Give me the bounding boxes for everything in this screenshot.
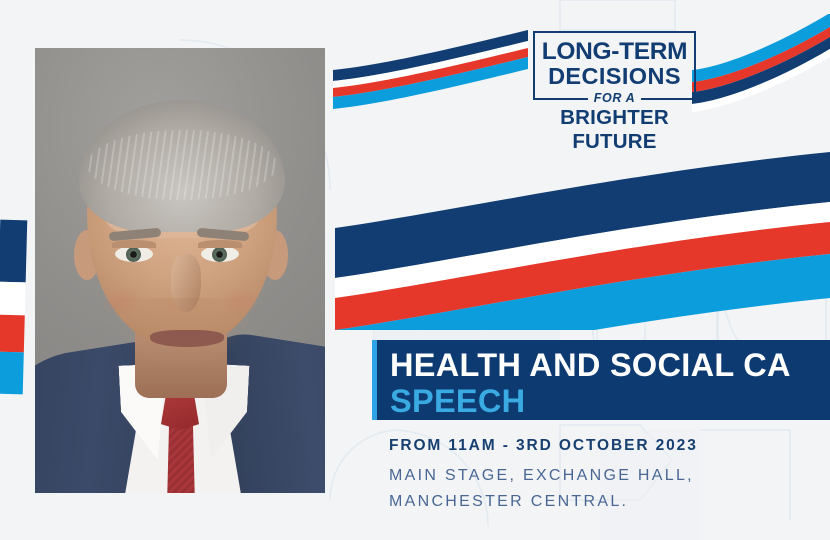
eye-right <box>201 246 239 262</box>
eyelid-left <box>112 240 156 248</box>
eyelid-right <box>198 240 242 248</box>
speaker-portrait-photo <box>35 48 325 493</box>
banner-left-accent-bar <box>372 340 377 420</box>
cheek-left <box>101 286 141 316</box>
promo-graphic-canvas: LONG-TERM DECISIONS FOR A BRIGHTER FUTUR… <box>0 0 830 540</box>
event-subtitle: SPEECH <box>390 382 525 420</box>
campaign-logo: LONG-TERM DECISIONS FOR A BRIGHTER FUTUR… <box>533 31 696 154</box>
nose <box>171 254 201 312</box>
iris-left <box>126 247 141 262</box>
logo-line-decisions: DECISIONS <box>535 64 694 89</box>
logo-line-long-term: LONG-TERM <box>533 40 695 64</box>
event-venue-line-1: MAIN STAGE, EXCHANGE HALL, <box>389 463 694 489</box>
event-venue: MAIN STAGE, EXCHANGE HALL, MANCHESTER CE… <box>389 463 694 515</box>
event-title: HEALTH AND SOCIAL CA <box>390 346 791 384</box>
cheek-right <box>221 286 261 316</box>
event-time: FROM 11AM - 3RD OCTOBER 2023 <box>389 437 698 455</box>
logo-connector-for-a: FOR A <box>588 91 641 105</box>
logo-connector-wrap: FOR A <box>535 89 694 107</box>
eye-left <box>115 246 153 262</box>
event-venue-line-2: MANCHESTER CENTRAL. <box>389 489 694 515</box>
necktie <box>166 426 196 493</box>
mouth <box>150 330 224 347</box>
logo-box: LONG-TERM DECISIONS FOR A <box>533 31 696 100</box>
title-banner: HEALTH AND SOCIAL CA SPEECH <box>372 340 830 420</box>
iris-right <box>212 247 227 262</box>
logo-line-brighter-future: BRIGHTER FUTURE <box>533 106 696 154</box>
